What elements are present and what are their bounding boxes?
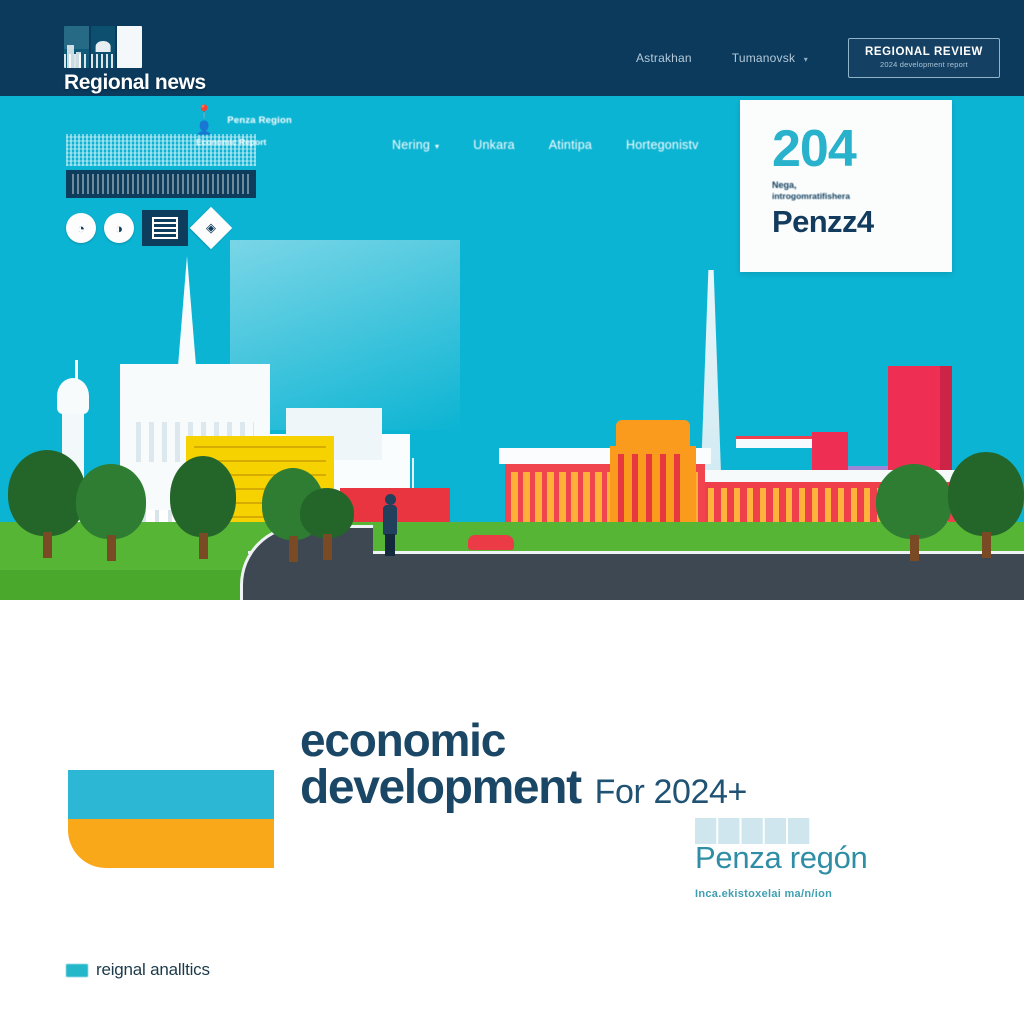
- table-grid-glyph: [152, 217, 178, 239]
- cta-title: REGIONAL REVIEW: [865, 46, 983, 58]
- top-nav-item-1[interactable]: Tumanovsk ▾: [732, 51, 808, 65]
- stat-meta-line1: Nega,: [772, 180, 952, 190]
- diamond-data-glyph: ◈: [206, 220, 216, 236]
- widget-side-line1: Penza Region: [227, 115, 292, 126]
- subtitle-caption: Inca.ekistoxelai ma/n/ion: [695, 888, 995, 900]
- hero-nav-item-3[interactable]: Hortegonistv: [626, 138, 699, 152]
- tree: [948, 452, 1024, 560]
- pedestrian-figure: [382, 494, 398, 556]
- brand-name: Regional news: [64, 71, 206, 95]
- analytics-circle-glyph: ◔: [77, 221, 85, 236]
- tree: [300, 488, 354, 552]
- hero-nav-label-0: Nering: [392, 138, 430, 152]
- headline-suffix: For 2024+: [595, 773, 747, 812]
- top-header-bar: Regional news Astrakhan Tumanovsk ▾ REGI…: [0, 0, 1024, 96]
- top-nav-label-0: Astrakhan: [636, 51, 692, 65]
- penza-region-flag: [68, 770, 274, 868]
- widget-data-bar: [66, 170, 256, 198]
- headline-line1: economic: [300, 718, 920, 762]
- cityscape-logo-icon: [64, 26, 142, 68]
- stat-number: 204: [772, 126, 952, 174]
- hero-nav: Nering▾ Unkara Atintipa Hortegonistv: [392, 138, 699, 152]
- tree: [76, 464, 146, 560]
- analytics-circle-icon[interactable]: ◔: [66, 213, 96, 243]
- hero-nav-item-1[interactable]: Unkara: [473, 138, 515, 152]
- chevron-down-icon: ▾: [804, 55, 808, 64]
- main-content: economic development For 2024+ █████ Pen…: [0, 600, 1024, 1024]
- monument-banner: [736, 436, 816, 448]
- page-root: Regional news Astrakhan Tumanovsk ▾ REGI…: [0, 0, 1024, 1024]
- red-car: [468, 535, 514, 550]
- cta-subtitle: 2024 development report: [865, 60, 983, 69]
- tree: [170, 456, 236, 560]
- tree: [876, 464, 952, 560]
- footer-brand[interactable]: reignal analltics: [66, 960, 210, 980]
- chevron-down-icon: ▾: [435, 142, 439, 151]
- headline-block: economic development For 2024+: [300, 718, 920, 815]
- widget-side-line2: Economic Report: [196, 137, 292, 147]
- subtitle-block: █████ Penza regón Inca.ekistoxelai ma/n/…: [695, 818, 995, 900]
- brand[interactable]: Regional news: [64, 26, 206, 95]
- widget-side-label: 📍👤 Penza Region Economic Report: [196, 104, 292, 147]
- footer-brand-label: reignal analltics: [96, 960, 210, 980]
- stat-label: Penzz4: [772, 204, 952, 240]
- chart-circle-icon[interactable]: ◑: [104, 213, 134, 243]
- tree: [8, 450, 86, 560]
- penza-cityscape-illustration: [0, 240, 1024, 600]
- hero-widget-panel[interactable]: ◔ ◑ ◈: [66, 134, 256, 248]
- hero-nav-item-0[interactable]: Nering▾: [392, 138, 439, 152]
- headline-line2: development: [300, 760, 581, 815]
- top-nav-item-0[interactable]: Astrakhan: [636, 51, 692, 65]
- top-nav-label-1: Tumanovsk: [732, 51, 795, 65]
- subtitle-text: Penza regón: [695, 840, 995, 876]
- pin-person-icon: 📍👤: [196, 104, 223, 136]
- hero-nav-item-2[interactable]: Atintipa: [549, 138, 592, 152]
- chart-circle-glyph: ◑: [115, 221, 123, 236]
- analytics-mark-icon: [66, 964, 88, 977]
- hero-section: ◔ ◑ ◈ 📍👤 Penza Region Econ: [0, 96, 1024, 600]
- top-nav: Astrakhan Tumanovsk ▾ REGIONAL REVIEW 20…: [636, 38, 1000, 78]
- regional-review-button[interactable]: REGIONAL REVIEW 2024 development report: [848, 38, 1000, 78]
- stat-meta-line2: introgomratifishera: [772, 191, 952, 201]
